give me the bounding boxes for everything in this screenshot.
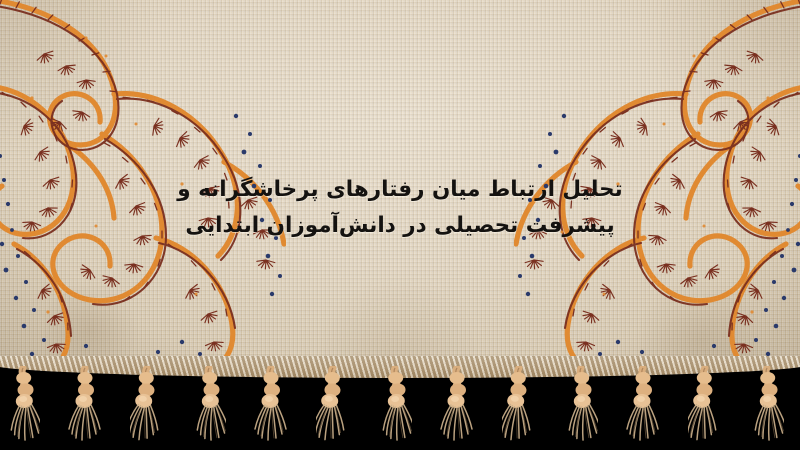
embroidered-fabric-panel: تحلیل ارتباط میان رفتارهای پرخاشگرانه و …: [0, 0, 800, 372]
tassel: [688, 366, 722, 450]
tassel: [6, 366, 40, 450]
tassel: [130, 366, 164, 450]
title-line-1: تحلیل ارتباط میان رفتارهای پرخاشگرانه و: [0, 172, 800, 208]
tassel: [378, 366, 412, 450]
tassel: [316, 366, 350, 450]
knotted-tassel-fringe: [0, 356, 800, 450]
tassel: [254, 366, 288, 450]
tassel: [192, 366, 226, 450]
page-title: تحلیل ارتباط میان رفتارهای پرخاشگرانه و …: [0, 172, 800, 244]
title-line-2: پیشرفت تحصیلی در دانش‌آموزان ابتدایی: [0, 208, 800, 244]
tassel: [440, 366, 474, 450]
tassel: [750, 366, 784, 450]
title-card: تحلیل ارتباط میان رفتارهای پرخاشگرانه و …: [0, 0, 800, 450]
tassel: [564, 366, 598, 450]
tassel: [502, 366, 536, 450]
tassel: [626, 366, 660, 450]
tassel: [68, 366, 102, 450]
